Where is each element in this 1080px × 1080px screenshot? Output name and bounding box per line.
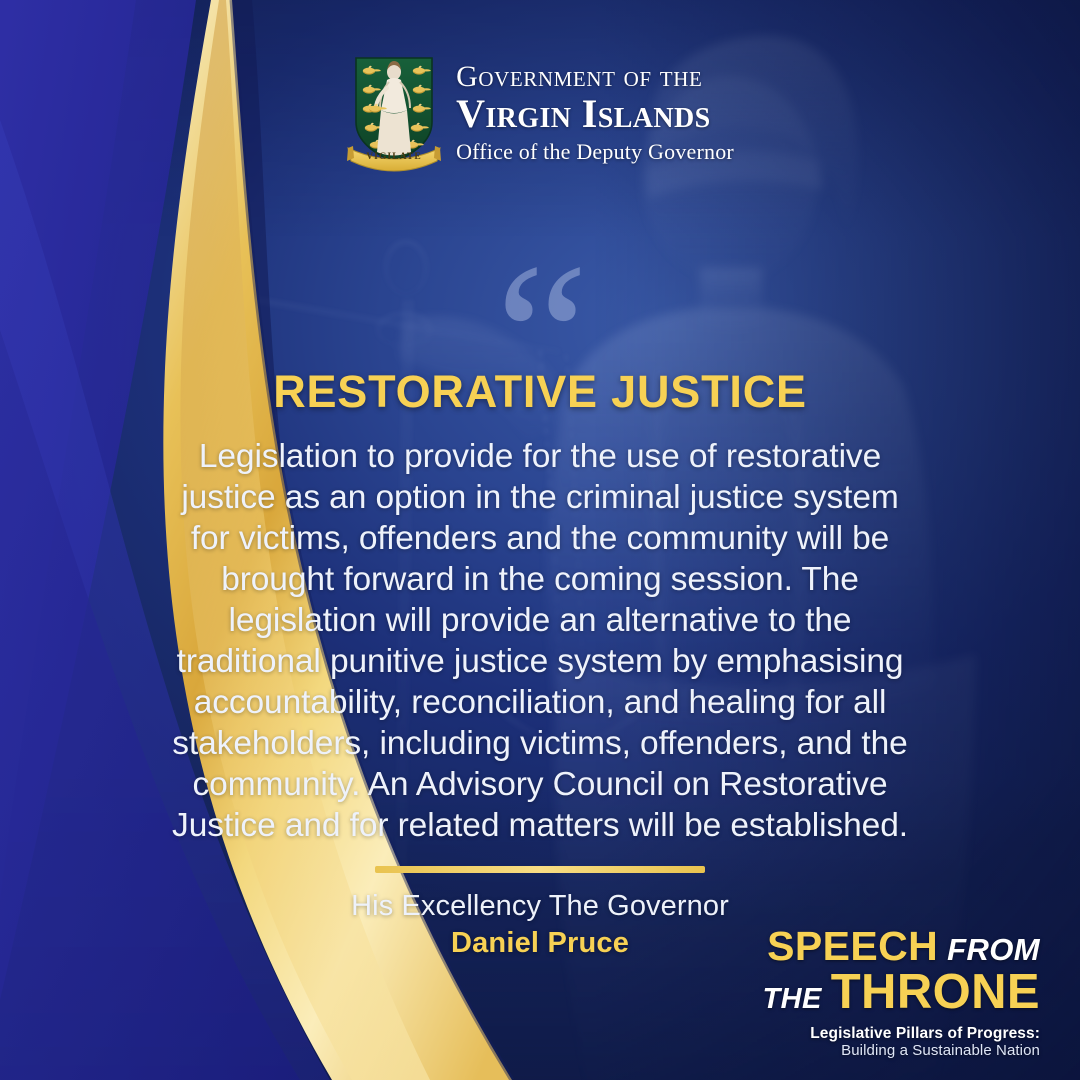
campaign-tagline-light: Building a Sustainable Nation — [763, 1043, 1041, 1058]
government-logo-lockup: VIGILATE Government of the Virgin Island… — [0, 52, 1080, 172]
logo-line-virgin-islands: Virgin Islands — [456, 94, 734, 134]
campaign-word-the: THE — [763, 985, 822, 1014]
campaign-tagline-bold: Legislative Pillars of Progress: — [763, 1026, 1041, 1042]
logo-line-office: Office of the Deputy Governor — [456, 141, 734, 163]
logo-line-government: Government of the — [456, 62, 734, 92]
campaign-word-speech: SPEECH — [767, 926, 938, 967]
page-title: RESTORATIVE JUSTICE — [0, 366, 1080, 418]
body-text: Legislation to provide for the use of re… — [170, 436, 910, 846]
attribution-role: His Excellency The Governor — [0, 890, 1080, 923]
campaign-word-from: FROM — [947, 934, 1040, 965]
speech-from-the-throne-logo: SPEECH FROM THE THRONE Legislative Pilla… — [763, 926, 1041, 1059]
campaign-word-throne: THRONE — [831, 968, 1040, 1017]
crest-motto: VIGILATE — [366, 152, 422, 162]
social-card: VIGILATE Government of the Virgin Island… — [0, 0, 1080, 1080]
bvi-coat-of-arms-icon: VIGILATE — [346, 52, 442, 172]
logo-text-block: Government of the Virgin Islands Office … — [456, 62, 734, 163]
gold-divider — [375, 866, 705, 873]
